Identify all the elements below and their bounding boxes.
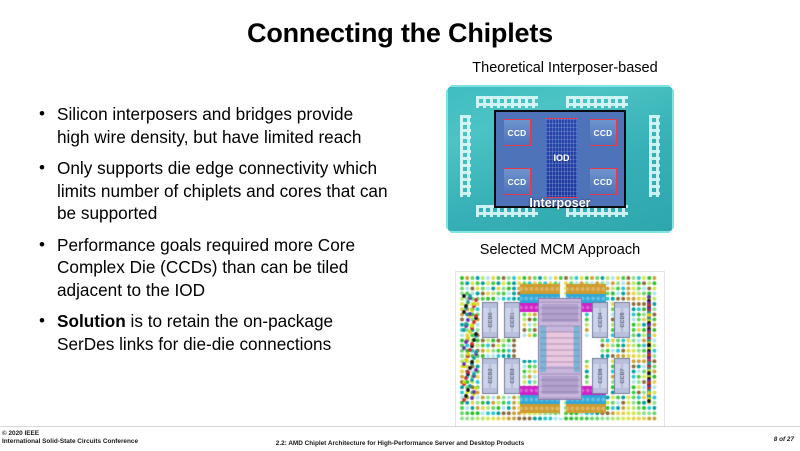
footer-page-number: 8 of 27 bbox=[774, 436, 794, 444]
bullet-text: Solution is to retain the on-package Ser… bbox=[57, 310, 388, 355]
mcm-layout-canvas bbox=[456, 272, 664, 426]
footer-session-title: 2.2: AMD Chiplet Architecture for High-P… bbox=[0, 440, 800, 448]
figure-mcm-package bbox=[455, 271, 665, 427]
substrate-corner-notch bbox=[446, 85, 452, 91]
page-title: Connecting the Chiplets bbox=[0, 18, 800, 49]
ccd-die-block: CCD bbox=[503, 168, 531, 195]
bullet-list: •Silicon interposers and bridges provide… bbox=[36, 103, 388, 364]
footer-divider bbox=[0, 426, 800, 427]
bullet-marker-icon: • bbox=[36, 310, 57, 333]
slide-canvas: Connecting the Chiplets •Silicon interpo… bbox=[0, 0, 800, 451]
bullet-item: •Only supports die edge connectivity whi… bbox=[36, 157, 388, 225]
footer-copyright-line1: © 2020 IEEE bbox=[2, 430, 138, 438]
substrate-corner-notch bbox=[668, 227, 674, 233]
figure-caption-mcm: Selected MCM Approach bbox=[455, 242, 665, 258]
bullet-run: Performance goals required more Core Com… bbox=[57, 235, 355, 300]
ccd-die-block: CCD bbox=[589, 168, 617, 195]
bullet-item: •Solution is to retain the on-package Se… bbox=[36, 310, 388, 355]
interposer-label: Interposer bbox=[496, 196, 624, 210]
solder-pad-array bbox=[649, 115, 660, 197]
bullet-marker-icon: • bbox=[36, 157, 57, 180]
bullet-run: Only supports die edge connectivity whic… bbox=[57, 158, 388, 223]
bullet-run: Silicon interposers and bridges provide … bbox=[57, 104, 361, 147]
bullet-item: •Performance goals required more Core Co… bbox=[36, 234, 388, 302]
bullet-text: Performance goals required more Core Com… bbox=[57, 234, 388, 302]
bullet-text: Only supports die edge connectivity whic… bbox=[57, 157, 388, 225]
bullet-emphasis: Solution bbox=[57, 311, 126, 331]
bullet-text: Silicon interposers and bridges provide … bbox=[57, 103, 388, 148]
interposer-boundary: CCD CCD CCD CCD IOD Interposer bbox=[494, 110, 626, 208]
substrate-corner-notch bbox=[446, 227, 452, 233]
bullet-marker-icon: • bbox=[36, 103, 57, 126]
ccd-die-block: CCD bbox=[589, 119, 617, 146]
iod-die-block: IOD bbox=[545, 118, 578, 198]
figure-caption-interposer: Theoretical Interposer-based bbox=[455, 60, 675, 76]
bullet-marker-icon: • bbox=[36, 234, 57, 257]
solder-pad-array bbox=[476, 96, 538, 108]
ccd-die-block: CCD bbox=[503, 119, 531, 146]
figure-interposer-package: CCD CCD CCD CCD IOD Interposer bbox=[446, 85, 674, 233]
solder-pad-array bbox=[460, 115, 471, 197]
bullet-item: •Silicon interposers and bridges provide… bbox=[36, 103, 388, 148]
substrate-corner-notch bbox=[668, 85, 674, 91]
solder-pad-array bbox=[566, 96, 628, 108]
